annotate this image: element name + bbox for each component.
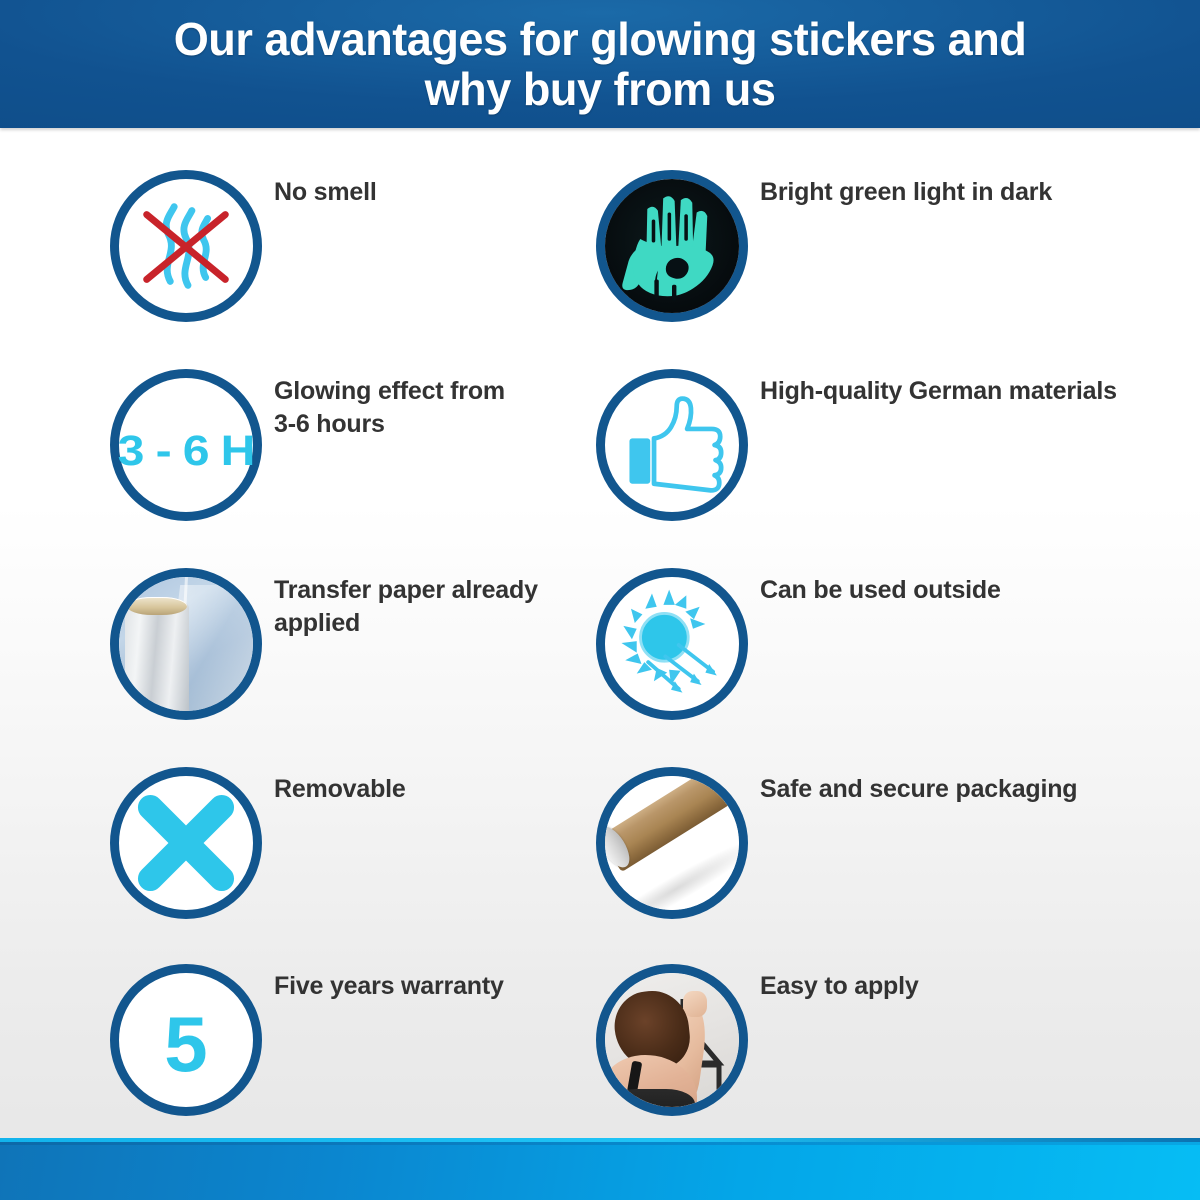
cross-x-icon [110, 767, 262, 919]
footer-accent-bar [0, 1138, 1200, 1200]
glowing-handprint-icon [596, 170, 748, 322]
feature-label: Glowing effect from 3-6 hours [274, 375, 584, 440]
feature-item-glow-in-dark: Bright green light in dark [596, 170, 1086, 370]
feature-label: Safe and secure packaging [760, 773, 1160, 806]
feature-item-glow-duration: 3 - 6 H Glowing effect from 3-6 hours [110, 369, 600, 569]
feature-item-no-smell: No smell [110, 170, 600, 370]
feature-item-packaging: Safe and secure packaging [596, 767, 1086, 967]
shipping-tube-photo [596, 767, 748, 919]
sun-with-rays-icon [596, 568, 748, 720]
feature-item-german-materials: High-quality German materials [596, 369, 1086, 569]
hours-badge-icon: 3 - 6 H [110, 369, 262, 521]
feature-grid: No smell [0, 128, 1200, 1138]
feature-item-removable: Removable [110, 767, 600, 967]
feature-item-easy-apply: Easy to apply [596, 964, 1086, 1164]
sun-rays-glyph [610, 582, 734, 706]
hours-badge-text: 3 - 6 H [111, 430, 261, 473]
feature-label: Can be used outside [760, 574, 1160, 607]
feature-label: Bright green light in dark [760, 176, 1160, 209]
feature-label: No smell [274, 176, 584, 209]
feature-label: Removable [274, 773, 584, 806]
header-banner: Our advantages for glowing stickers and … [0, 0, 1200, 128]
feature-item-outdoor-use: Can be used outside [596, 568, 1086, 768]
page-title: Our advantages for glowing stickers and … [160, 14, 1040, 114]
handprint-glyph [605, 179, 739, 313]
no-smell-glyph [127, 187, 245, 305]
transfer-paper-roll-photo [110, 568, 262, 720]
feature-item-transfer-paper: Transfer paper already applied [110, 568, 600, 768]
five-badge-icon: 5 [110, 964, 262, 1116]
infographic-page: Our advantages for glowing stickers and … [0, 0, 1200, 1200]
feature-label: Easy to apply [760, 970, 1160, 1003]
feature-label: High-quality German materials [760, 375, 1160, 408]
woman-applying-sticker-photo [596, 964, 748, 1116]
five-badge-text: 5 [119, 1005, 253, 1083]
thumbs-up-glyph [620, 393, 724, 497]
feature-item-warranty: 5 Five years warranty [110, 964, 600, 1164]
thumbs-up-icon [596, 369, 748, 521]
cross-x-glyph [132, 789, 240, 897]
feature-label: Five years warranty [274, 970, 584, 1003]
feature-label: Transfer paper already applied [274, 574, 584, 639]
no-smell-icon [110, 170, 262, 322]
